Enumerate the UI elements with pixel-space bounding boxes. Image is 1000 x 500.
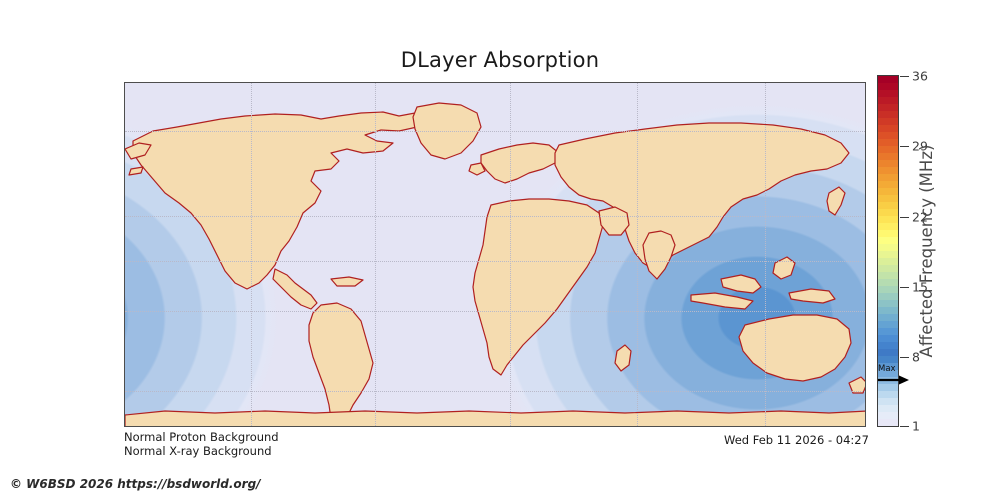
colorbar-band-32 <box>878 300 898 307</box>
colorbar-band-5 <box>878 111 898 118</box>
colorbar-band-36 <box>878 328 898 335</box>
max-arrow-icon <box>877 375 909 385</box>
colorbar-band-33 <box>878 307 898 314</box>
colorbar-band-3 <box>878 97 898 104</box>
colorbar-band-13 <box>878 167 898 174</box>
colorbar-band-22 <box>878 230 898 237</box>
colorbar-max-label: Max <box>878 364 896 374</box>
colorbar-band-10 <box>878 146 898 153</box>
colorbar-tick-29 <box>900 146 909 147</box>
colorbar-band-20 <box>878 216 898 223</box>
colorbar-max-marker: Max <box>877 364 921 388</box>
colorbar-band-16 <box>878 188 898 195</box>
colorbar-axis-label: Affected Frequency (MHz) <box>916 75 938 427</box>
colorbar-band-4 <box>878 104 898 111</box>
page-title: DLayer Absorption <box>0 48 1000 72</box>
colorbar-band-34 <box>878 314 898 321</box>
colorbar-band-19 <box>878 209 898 216</box>
colorbar-band-8 <box>878 132 898 139</box>
colorbar-band-26 <box>878 258 898 265</box>
colorbar-band-46 <box>878 398 898 405</box>
colorbar-band-21 <box>878 223 898 230</box>
colorbar-band-6 <box>878 118 898 125</box>
colorbar-band-48 <box>878 412 898 419</box>
colorbar-band-1 <box>878 83 898 90</box>
proton-background-note: Normal Proton Background <box>124 430 279 444</box>
map-canvas <box>125 83 866 427</box>
colorbar-band-47 <box>878 405 898 412</box>
colorbar-band-30 <box>878 286 898 293</box>
colorbar-band-15 <box>878 181 898 188</box>
colorbar-band-29 <box>878 279 898 286</box>
colorbar-band-14 <box>878 174 898 181</box>
colorbar-band-31 <box>878 293 898 300</box>
colorbar-band-12 <box>878 160 898 167</box>
colorbar-band-9 <box>878 139 898 146</box>
copyright-label: © W6BSD 2026 https://bsdworld.org/ <box>10 477 261 491</box>
colorbar[interactable]: 36 29 22 15 8 1 Max <box>877 75 899 427</box>
colorbar-band-38 <box>878 342 898 349</box>
colorbar-band-7 <box>878 125 898 132</box>
colorbar-tick-8 <box>900 357 909 358</box>
colorbar-tick-36 <box>900 76 909 77</box>
colorbar-band-35 <box>878 321 898 328</box>
colorbar-band-28 <box>878 272 898 279</box>
colorbar-band-24 <box>878 244 898 251</box>
colorbar-band-2 <box>878 90 898 97</box>
colorbar-band-17 <box>878 195 898 202</box>
colorbar-band-0 <box>878 76 898 83</box>
colorbar-band-40 <box>878 356 898 363</box>
colorbar-band-27 <box>878 265 898 272</box>
colorbar-band-39 <box>878 349 898 356</box>
colorbar-band-11 <box>878 153 898 160</box>
antarctica-path <box>125 411 866 427</box>
timestamp-label: Wed Feb 11 2026 - 04:27 <box>724 433 869 447</box>
colorbar-band-25 <box>878 251 898 258</box>
map-layers <box>125 83 866 427</box>
colorbar-band-49 <box>878 419 898 426</box>
colorbar-band-37 <box>878 335 898 342</box>
colorbar-tick-1 <box>900 426 909 427</box>
colorbar-tick-15 <box>900 287 909 288</box>
colorbar-band-23 <box>878 237 898 244</box>
world-map-panel[interactable] <box>124 82 866 427</box>
colorbar-band-45 <box>878 391 898 398</box>
xray-background-note: Normal X-ray Background <box>124 444 272 458</box>
colorbar-tick-22 <box>900 217 909 218</box>
colorbar-band-18 <box>878 202 898 209</box>
